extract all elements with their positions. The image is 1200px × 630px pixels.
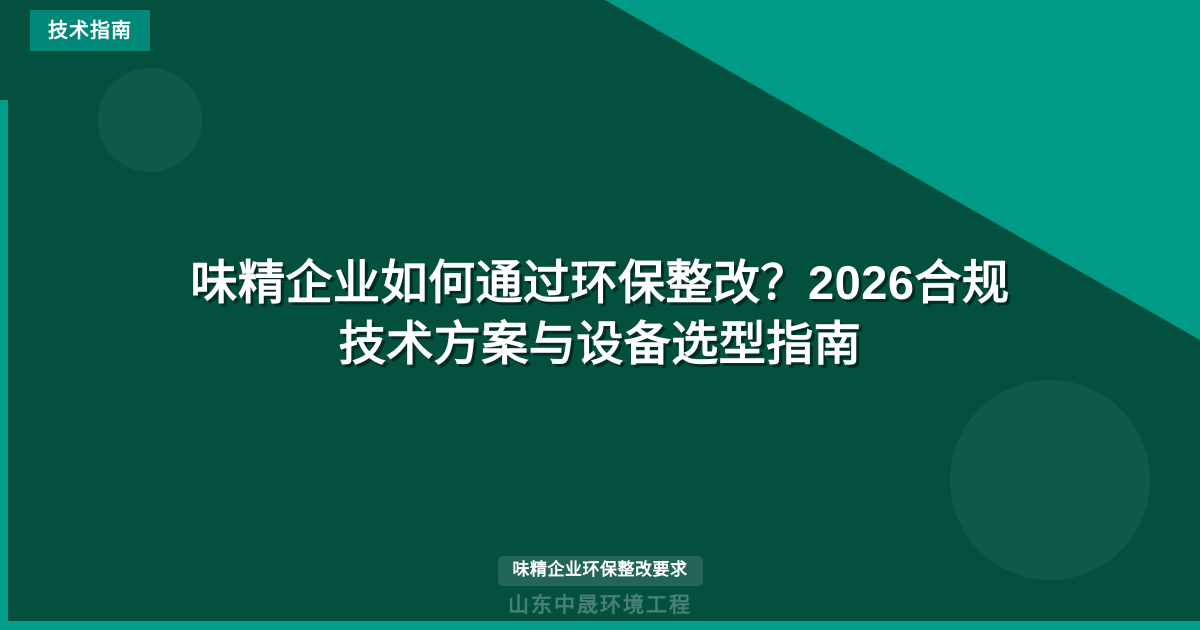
page-title-line-1: 味精企业如何通过环保整改？2026合规 — [70, 253, 1130, 313]
category-badge: 技术指南 — [30, 10, 150, 51]
keyword-pill-label: 味精企业环保整改要求 — [513, 560, 688, 579]
brand-name: 山东中晟环境工程 — [508, 594, 692, 618]
page-title: 味精企业如何通过环保整改？2026合规 技术方案与设备选型指南 — [0, 253, 1200, 373]
decorative-circle-bottom-right — [950, 380, 1150, 580]
decorative-circle-top-left — [98, 68, 202, 172]
brand-name-label: 山东中晟环境工程 — [508, 594, 692, 617]
footer-block: 味精企业环保整改要求 山东中晟环境工程 — [0, 556, 1200, 618]
bottom-accent-bar — [0, 621, 1200, 630]
category-badge-label: 技术指南 — [48, 21, 132, 41]
poster-canvas: 技术指南 味精企业如何通过环保整改？2026合规 技术方案与设备选型指南 味精企… — [0, 0, 1200, 630]
keyword-pill: 味精企业环保整改要求 — [498, 556, 703, 586]
page-title-line-2: 技术方案与设备选型指南 — [70, 314, 1130, 374]
